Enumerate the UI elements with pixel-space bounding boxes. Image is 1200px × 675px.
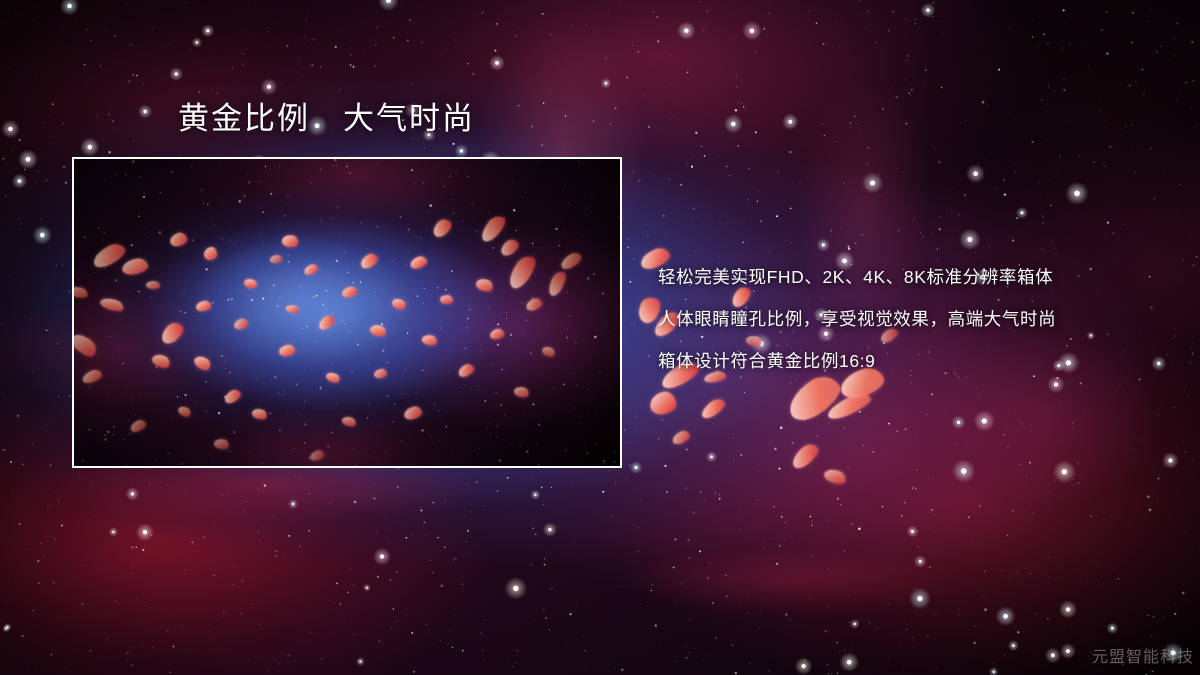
petal — [281, 234, 299, 249]
frame-starfield — [74, 159, 622, 468]
petal — [121, 257, 149, 276]
frame-nebula-image — [74, 159, 620, 466]
petal — [545, 269, 569, 298]
petal — [477, 212, 508, 244]
petal — [90, 240, 128, 271]
petal — [421, 333, 438, 346]
petal — [341, 415, 357, 428]
petal — [158, 319, 187, 347]
petal — [498, 237, 521, 258]
petal — [169, 231, 188, 247]
petal — [369, 323, 388, 338]
body-copy-line-2: 人体眼睛瞳孔比例，享受视觉效果，高端大气时尚 — [658, 298, 1178, 340]
product-image-frame — [72, 157, 622, 468]
petal — [150, 352, 171, 370]
petal — [81, 368, 104, 385]
petal — [72, 330, 100, 360]
petal — [251, 407, 268, 421]
petal — [316, 313, 336, 332]
frame-vignette — [74, 159, 620, 466]
petal — [822, 467, 847, 487]
petal — [270, 254, 283, 263]
page-title: 黄金比例 大气时尚 — [178, 100, 475, 138]
petal — [213, 438, 230, 451]
petal — [409, 255, 429, 271]
petal — [204, 247, 217, 260]
petal — [648, 390, 677, 416]
petal — [358, 251, 380, 270]
petal — [430, 216, 454, 240]
petal — [456, 362, 475, 379]
petal — [195, 300, 211, 312]
petal — [325, 370, 341, 384]
petal — [341, 286, 358, 299]
body-copy-line-1: 轻松完美实现FHD、2K、4K、8K标准分辨率箱体 — [658, 256, 1178, 298]
petal — [671, 429, 692, 447]
body-copy-line-3: 箱体设计符合黄金比例16:9 — [658, 340, 1178, 382]
petal — [825, 389, 874, 422]
petal — [525, 297, 544, 313]
petal — [403, 405, 423, 421]
petal — [285, 304, 299, 315]
petal — [303, 263, 319, 277]
petal — [99, 296, 125, 314]
petal — [699, 396, 728, 421]
petal — [504, 252, 539, 292]
presentation-slide: 黄金比例 大气时尚 轻松完美实现FHD、2K、4K、8K标准分辨率箱体 人体眼睛… — [0, 0, 1200, 675]
petal — [390, 296, 407, 312]
petal — [474, 276, 494, 293]
watermark: 元盟智能科技 — [1092, 647, 1194, 669]
petal — [309, 449, 325, 462]
petal — [222, 387, 242, 405]
petal — [129, 418, 148, 434]
petal — [192, 353, 213, 373]
petal — [558, 250, 583, 271]
petal — [233, 317, 249, 330]
body-copy-block: 轻松完美实现FHD、2K、4K、8K标准分辨率箱体 人体眼睛瞳孔比例，享受视觉效… — [658, 256, 1178, 382]
petal — [72, 285, 89, 300]
petal — [243, 277, 258, 290]
petal — [279, 344, 296, 356]
petal — [146, 280, 161, 289]
petal — [439, 294, 453, 305]
petal — [541, 344, 557, 358]
petal — [788, 440, 821, 472]
petal — [373, 368, 387, 379]
petal — [177, 404, 193, 418]
petal — [513, 385, 530, 399]
petal — [489, 328, 505, 340]
